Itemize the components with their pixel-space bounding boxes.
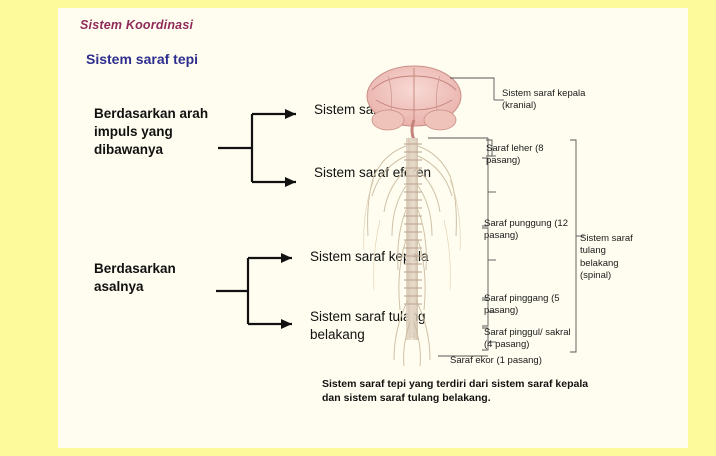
annotation-kranial: Sistem saraf kepala (kranial) [502,88,588,113]
branch-connector-group1 [218,108,314,188]
annotation-spinal: Sistem saraf tulang belakang (spinal) [580,233,640,282]
annotation-ekor: Saraf ekor (1 pasang) [450,355,580,367]
annotation-sakral: Saraf pinggul/ sakral (4 pasang) [484,327,576,352]
annotation-punggung: Saraf punggung (12 pasang) [484,218,576,243]
group-label-asalnya: Berdasarkan asalnya [94,260,212,296]
spinal-cord [404,138,422,340]
illustration-caption: Sistem saraf tepi yang terdiri dari sist… [322,377,592,405]
branch-connector-group2 [216,253,312,331]
slide-header-small: Sistem Koordinasi [80,18,193,32]
slide-subtitle: Sistem saraf tepi [86,51,198,67]
annotation-leher: Saraf leher (8 pasang) [486,143,572,168]
brain-figure [367,66,461,140]
group-label-impuls: Berdasarkan arah impuls yang dibawanya [94,105,212,158]
annotation-pinggang: Saraf pinggang (5 pasang) [484,293,576,318]
